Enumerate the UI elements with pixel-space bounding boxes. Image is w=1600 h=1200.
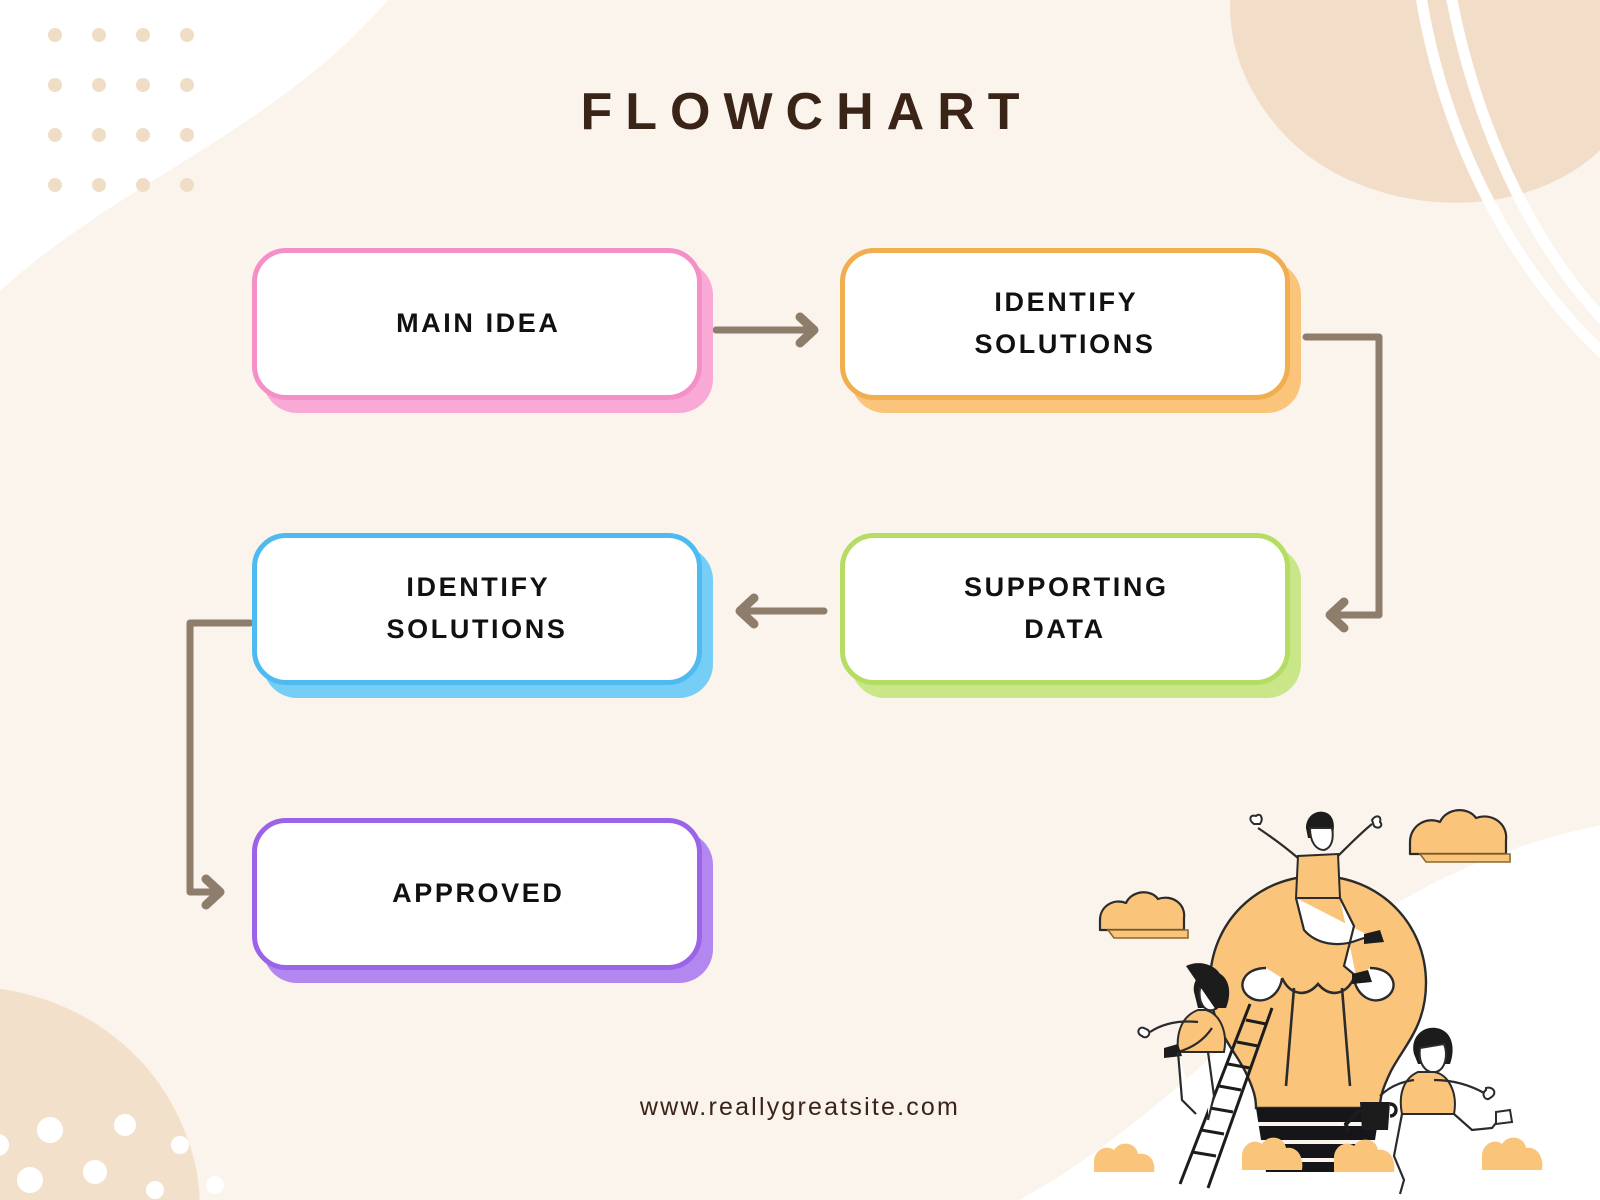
flow-node-label: MAIN IDEA [394,303,561,345]
flow-node-label: IDENTIFY SOLUTIONS [387,567,568,651]
flow-node-identify-solutions-1[interactable]: IDENTIFY SOLUTIONS [840,248,1290,400]
flowchart-canvas: FLOWCHART MAIN IDEA IDEN [0,0,1600,1200]
flow-node-identify-solutions-2[interactable]: IDENTIFY SOLUTIONS [252,533,702,685]
flow-node-label: IDENTIFY SOLUTIONS [975,282,1156,366]
arrow-identify-solutions-to-approved [190,623,250,905]
lightbulb-teamwork-illustration [1058,780,1578,1200]
arrow-supporting-data-to-identify-solutions [740,598,824,624]
footer-website-url: www.reallygreatsite.com [0,1093,1600,1122]
flow-node-supporting-data[interactable]: SUPPORTING DATA [840,533,1290,685]
arrow-identify-solutions-to-supporting-data [1306,337,1379,628]
arrow-main-idea-to-identify-solutions [716,317,814,343]
flow-node-approved[interactable]: APPROVED [252,818,702,970]
cloud-icon [1410,810,1510,862]
flow-node-label: SUPPORTING DATA [961,567,1168,651]
cloud-icon [1100,892,1188,938]
flow-node-main-idea[interactable]: MAIN IDEA [252,248,702,400]
flow-node-label: APPROVED [390,873,565,915]
